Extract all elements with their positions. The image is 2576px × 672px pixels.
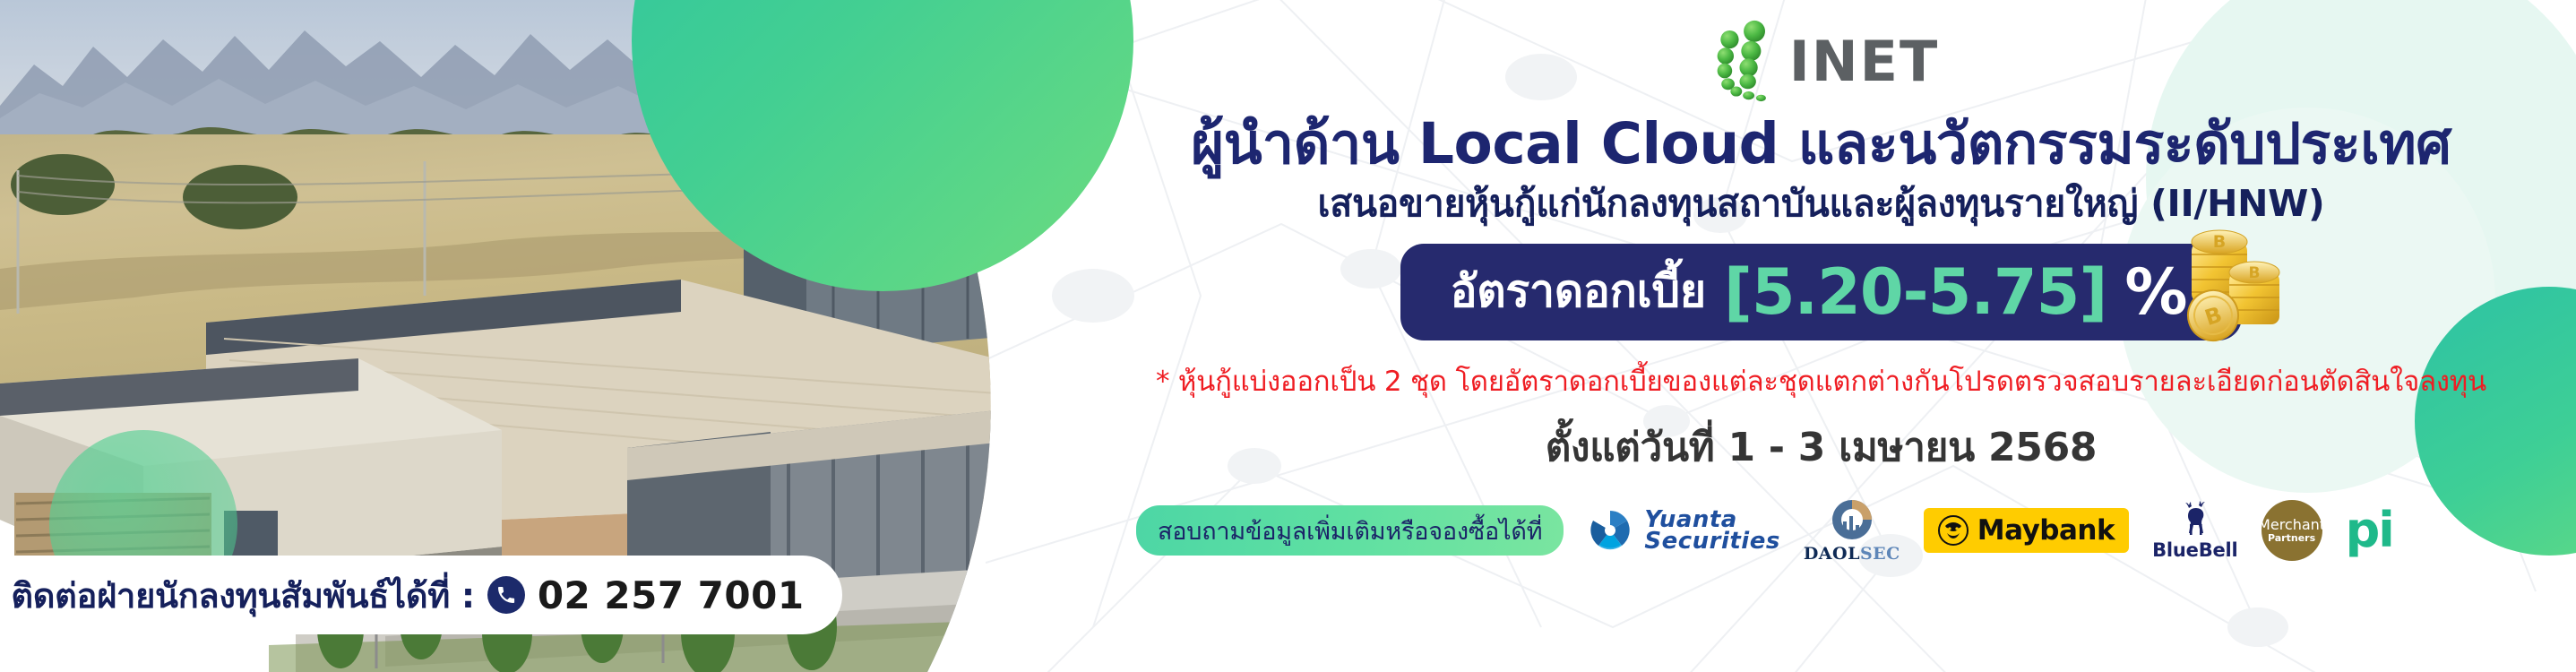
investor-relations-contact-box[interactable]: ติดต่อฝ่ายนักลงทุนสัมพันธ์ได้ที่ : 02 25…	[0, 556, 842, 634]
partner-logo-maybank[interactable]: Maybank	[1924, 508, 2129, 553]
merchant-name-line1: Merchant	[2258, 518, 2325, 533]
bluebell-deer-icon	[2176, 501, 2214, 538]
pi-wordmark-icon: pi	[2346, 510, 2393, 551]
interest-rate-box: อัตราดอกเบี้ย [5.20-5.75] %	[1400, 244, 2243, 340]
offering-date-line: ตั้งแต่วันที่ 1 - 3 เมษายน 2568	[1546, 416, 2097, 478]
daol-name-line2: SEC	[1860, 544, 1900, 564]
svg-text:B: B	[2249, 264, 2261, 282]
merchant-partners-circle-icon: Merchant Partners	[2262, 500, 2322, 561]
contact-label: ติดต่อฝ่ายนักลงทุนสัมพันธ์ได้ที่ :	[11, 568, 474, 623]
partner-logo-yuanta[interactable]: Yuanta Securities	[1587, 507, 1779, 554]
cta-label: สอบถามข้อมูลเพิ่มเติมหรือจองซื้อได้ที่	[1158, 512, 1542, 550]
daol-wordmark: DAOLSEC	[1804, 544, 1900, 564]
yuanta-name-line2: Securities	[1644, 530, 1779, 553]
interest-rate-label: อัตราดอกเบี้ย	[1451, 256, 1706, 327]
bitcoin-coins-stack-icon: B B	[2174, 222, 2292, 348]
maybank-wordmark: Maybank	[1977, 514, 2115, 547]
yuanta-star-icon	[1587, 507, 1633, 554]
inet-bond-offering-banner: ติดต่อฝ่ายนักลงทุนสัมพันธ์ได้ที่ : 02 25…	[0, 0, 2576, 672]
partner-logo-bluebell[interactable]: BlueBell	[2152, 501, 2237, 561]
subheadline: เสนอขายหุ้นกู้แก่นักลงทุนสถาบันและผู้ลงท…	[1318, 182, 2325, 226]
partner-logo-daol[interactable]: DAOLSEC	[1804, 498, 1900, 564]
inet-logo: INET	[1703, 20, 1940, 102]
yuanta-wordmark: Yuanta Securities	[1644, 509, 1779, 553]
partner-logo-pi[interactable]: pi	[2346, 510, 2393, 551]
interest-rate-row: อัตราดอกเบี้ย [5.20-5.75] %	[1400, 244, 2243, 340]
daol-name-line1: DAOL	[1804, 544, 1860, 564]
headline: ผู้นำด้าน Local Cloud และนวัตกรรมระดับปร…	[1191, 113, 2451, 177]
maybank-tiger-icon	[1938, 515, 1969, 546]
disclaimer-text: * หุ้นกู้แบ่งออกเป็น 2 ชุด โดยอัตราดอกเบ…	[1156, 358, 2486, 403]
partners-row: สอบถามข้อมูลเพิ่มเติมหรือจองซื้อได้ที่	[1066, 498, 2576, 564]
phone-icon	[487, 576, 525, 614]
interest-rate-value: [5.20-5.75]	[1724, 261, 2106, 323]
partner-logo-merchant-partners[interactable]: Merchant Partners	[2262, 500, 2322, 561]
svg-text:B: B	[2213, 232, 2226, 252]
contact-phone-number: 02 257 7001	[538, 573, 805, 617]
bluebell-wordmark: BlueBell	[2152, 539, 2237, 561]
merchant-name-line2: Partners	[2268, 533, 2315, 544]
daol-circle-icon	[1831, 498, 1874, 541]
main-content-column: INET ผู้นำด้าน Local Cloud และนวัตกรรมระ…	[1066, 0, 2576, 672]
cta-enquiry-button[interactable]: สอบถามข้อมูลเพิ่มเติมหรือจองซื้อได้ที่	[1136, 505, 1564, 556]
inet-dots-logo-icon	[1703, 20, 1786, 102]
inet-wordmark: INET	[1789, 34, 1940, 102]
